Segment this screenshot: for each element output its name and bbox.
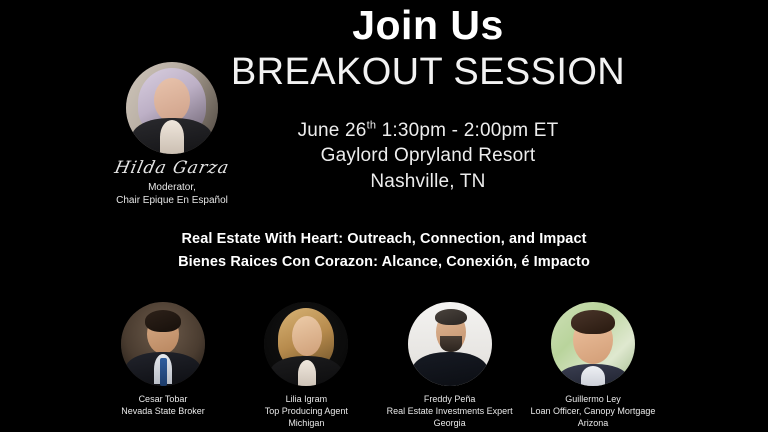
- speakers-row: Cesar Tobar Nevada State Broker Lilia Ig…: [98, 302, 658, 429]
- event-datetime-line: June 26th 1:30pm - 2:00pm ET: [208, 118, 648, 143]
- speaker-location: Arizona: [528, 417, 658, 429]
- speaker-photo: [408, 302, 492, 386]
- speaker-caption: Freddy Peña Real Estate Investments Expe…: [385, 393, 515, 429]
- speaker-caption: Guillermo Ley Loan Officer, Canopy Mortg…: [528, 393, 658, 429]
- speaker-photo: [264, 302, 348, 386]
- speaker-caption: Lilia Igram Top Producing Agent Michigan: [241, 393, 371, 429]
- event-venue: Gaylord Opryland Resort: [208, 143, 648, 168]
- moderator-block: Hilda Garza Moderator, Chair Epique En E…: [82, 62, 262, 207]
- speaker-role: Real Estate Investments Expert: [385, 405, 515, 417]
- session-title-english: Real Estate With Heart: Outreach, Connec…: [84, 228, 684, 251]
- event-time: 1:30pm - 2:00pm ET: [376, 120, 558, 141]
- speaker-location: Michigan: [241, 417, 371, 429]
- speaker-name: Freddy Peña: [385, 393, 515, 405]
- event-city: Nashville, TN: [208, 169, 648, 194]
- speaker-role: Nevada State Broker: [98, 405, 228, 417]
- speaker-photo: [551, 302, 635, 386]
- speaker-card: Guillermo Ley Loan Officer, Canopy Mortg…: [528, 302, 658, 429]
- speaker-location: Georgia: [385, 417, 515, 429]
- speaker-role: Top Producing Agent: [241, 405, 371, 417]
- speaker-name: Lilia Igram: [241, 393, 371, 405]
- moderator-photo: [126, 62, 218, 154]
- speaker-name: Guillermo Ley: [528, 393, 658, 405]
- speaker-card: Lilia Igram Top Producing Agent Michigan: [241, 302, 371, 429]
- speaker-card: Freddy Peña Real Estate Investments Expe…: [385, 302, 515, 429]
- speaker-photo: [121, 302, 205, 386]
- moderator-role: Moderator,: [82, 181, 262, 194]
- speaker-card: Cesar Tobar Nevada State Broker: [98, 302, 228, 417]
- session-title-block: Real Estate With Heart: Outreach, Connec…: [84, 228, 684, 274]
- speaker-name: Cesar Tobar: [98, 393, 228, 405]
- speaker-role: Loan Officer, Canopy Mortgage: [528, 405, 658, 417]
- session-title-spanish: Bienes Raices Con Corazon: Alcance, Cone…: [84, 251, 684, 274]
- moderator-signature: Hilda Garza: [79, 155, 265, 181]
- event-flyer: Join Us BREAKOUT SESSION June 26th 1:30p…: [0, 0, 768, 432]
- event-details-block: June 26th 1:30pm - 2:00pm ET Gaylord Opr…: [208, 118, 648, 194]
- headline-join-us: Join Us: [178, 4, 678, 47]
- event-date-ordinal: th: [367, 120, 377, 132]
- event-date: June 26: [298, 120, 367, 141]
- speaker-caption: Cesar Tobar Nevada State Broker: [98, 393, 228, 417]
- moderator-caption: Moderator, Chair Epique En Español: [82, 181, 262, 207]
- moderator-title: Chair Epique En Español: [82, 194, 262, 207]
